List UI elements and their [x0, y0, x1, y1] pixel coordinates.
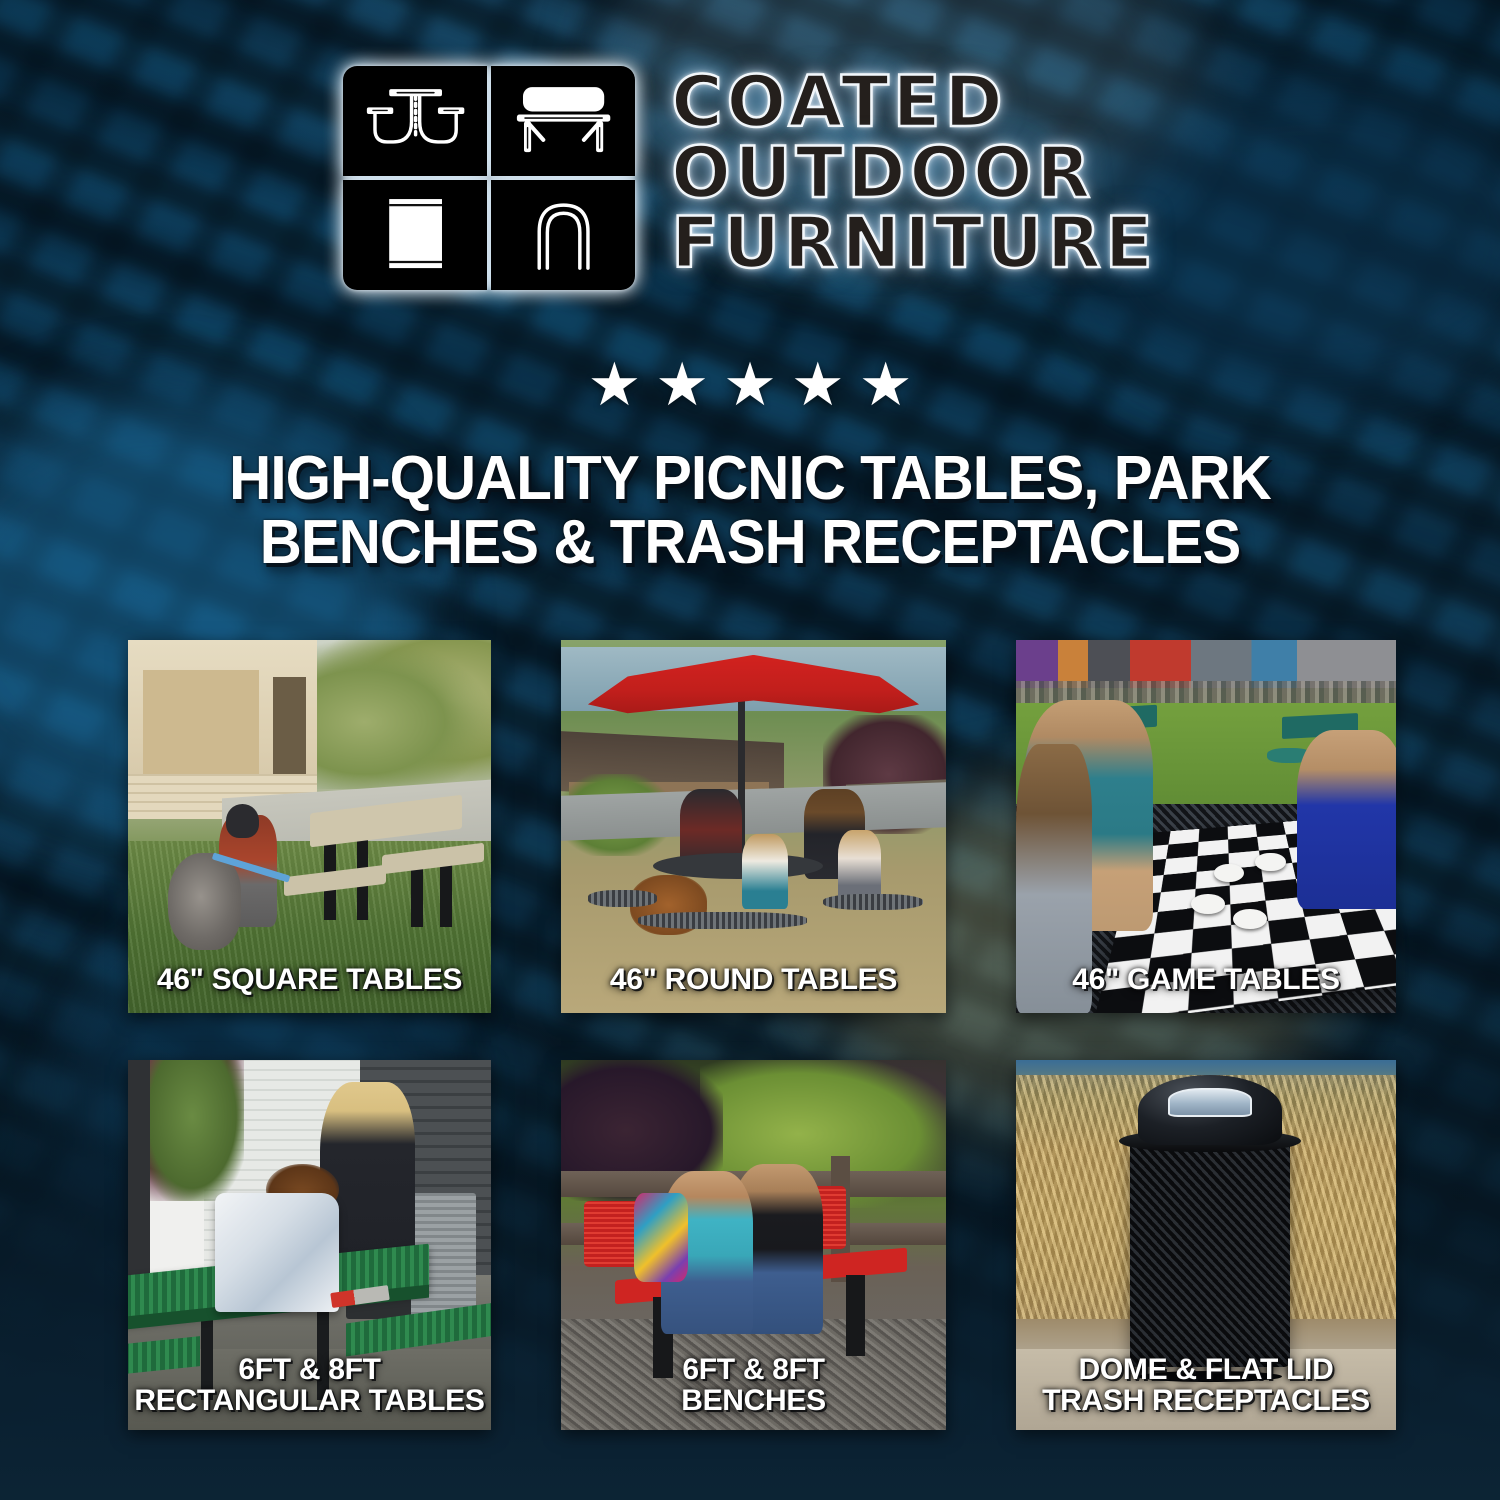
product-caption-game-tables: 46" GAME TABLES [1022, 964, 1390, 995]
caption-line: 6FT & 8FT [134, 1354, 485, 1385]
picnic-table-icon [343, 66, 487, 176]
star-icon-3: ★ [723, 355, 777, 415]
product-card-game-tables[interactable]: 46" GAME TABLES [1016, 640, 1396, 1013]
caption-line: 46" GAME TABLES [1022, 964, 1390, 995]
product-card-trash-receptacles[interactable]: DOME & FLAT LID TRASH RECEPTACLES [1016, 1060, 1396, 1430]
logo-line-2: OUTDOOR [671, 139, 1157, 208]
dome-lid-icon [491, 180, 635, 290]
table-top-icon [343, 180, 487, 290]
headline-line-1: HIGH-QUALITY PICNIC TABLES, PARK [101, 447, 1398, 511]
ad-banner: COATED OUTDOOR FURNITURE ★ ★ ★ ★ ★ HIGH-… [0, 0, 1500, 1500]
caption-line: TRASH RECEPTACLES [1022, 1385, 1390, 1416]
headline: HIGH-QUALITY PICNIC TABLES, PARK BENCHES… [101, 447, 1398, 575]
star-rating: ★ ★ ★ ★ ★ [0, 355, 1500, 415]
logo-mark-tiles [343, 66, 635, 290]
product-card-square-tables[interactable]: 46" SQUARE TABLES [128, 640, 491, 1013]
caption-line: DOME & FLAT LID [1022, 1354, 1390, 1385]
product-photo-round-tables [561, 640, 946, 1013]
product-card-benches[interactable]: 6FT & 8FT BENCHES [561, 1060, 946, 1430]
headline-line-2: BENCHES & TRASH RECEPTACLES [101, 511, 1398, 575]
caption-line: 46" SQUARE TABLES [134, 964, 485, 995]
brand-logo: COATED OUTDOOR FURNITURE [0, 66, 1500, 290]
product-caption-round-tables: 46" ROUND TABLES [567, 964, 940, 995]
logo-line-1: COATED [671, 68, 1157, 137]
product-card-round-tables[interactable]: 46" ROUND TABLES [561, 640, 946, 1013]
product-caption-square-tables: 46" SQUARE TABLES [134, 964, 485, 995]
product-caption-trash-receptacles: DOME & FLAT LID TRASH RECEPTACLES [1022, 1354, 1390, 1416]
logo-line-3: FURNITURE [671, 209, 1157, 278]
star-icon-2: ★ [655, 355, 709, 415]
star-icon-5: ★ [859, 355, 913, 415]
caption-line: 6FT & 8FT [567, 1354, 940, 1385]
product-card-rectangular-tables[interactable]: 6FT & 8FT RECTANGULAR TABLES [128, 1060, 491, 1430]
caption-line: RECTANGULAR TABLES [134, 1385, 485, 1416]
product-photo-game-tables [1016, 640, 1396, 1013]
product-caption-rectangular-tables: 6FT & 8FT RECTANGULAR TABLES [134, 1354, 485, 1416]
product-photo-square-tables [128, 640, 491, 1013]
caption-line: 46" ROUND TABLES [567, 964, 940, 995]
bench-icon [491, 66, 635, 176]
star-icon-1: ★ [588, 355, 642, 415]
product-caption-benches: 6FT & 8FT BENCHES [567, 1354, 940, 1416]
logo-wordmark: COATED OUTDOOR FURNITURE [671, 66, 1157, 278]
product-grid: 46" SQUARE TABLES [128, 640, 1373, 1430]
star-icon-4: ★ [791, 355, 845, 415]
caption-line: BENCHES [567, 1385, 940, 1416]
